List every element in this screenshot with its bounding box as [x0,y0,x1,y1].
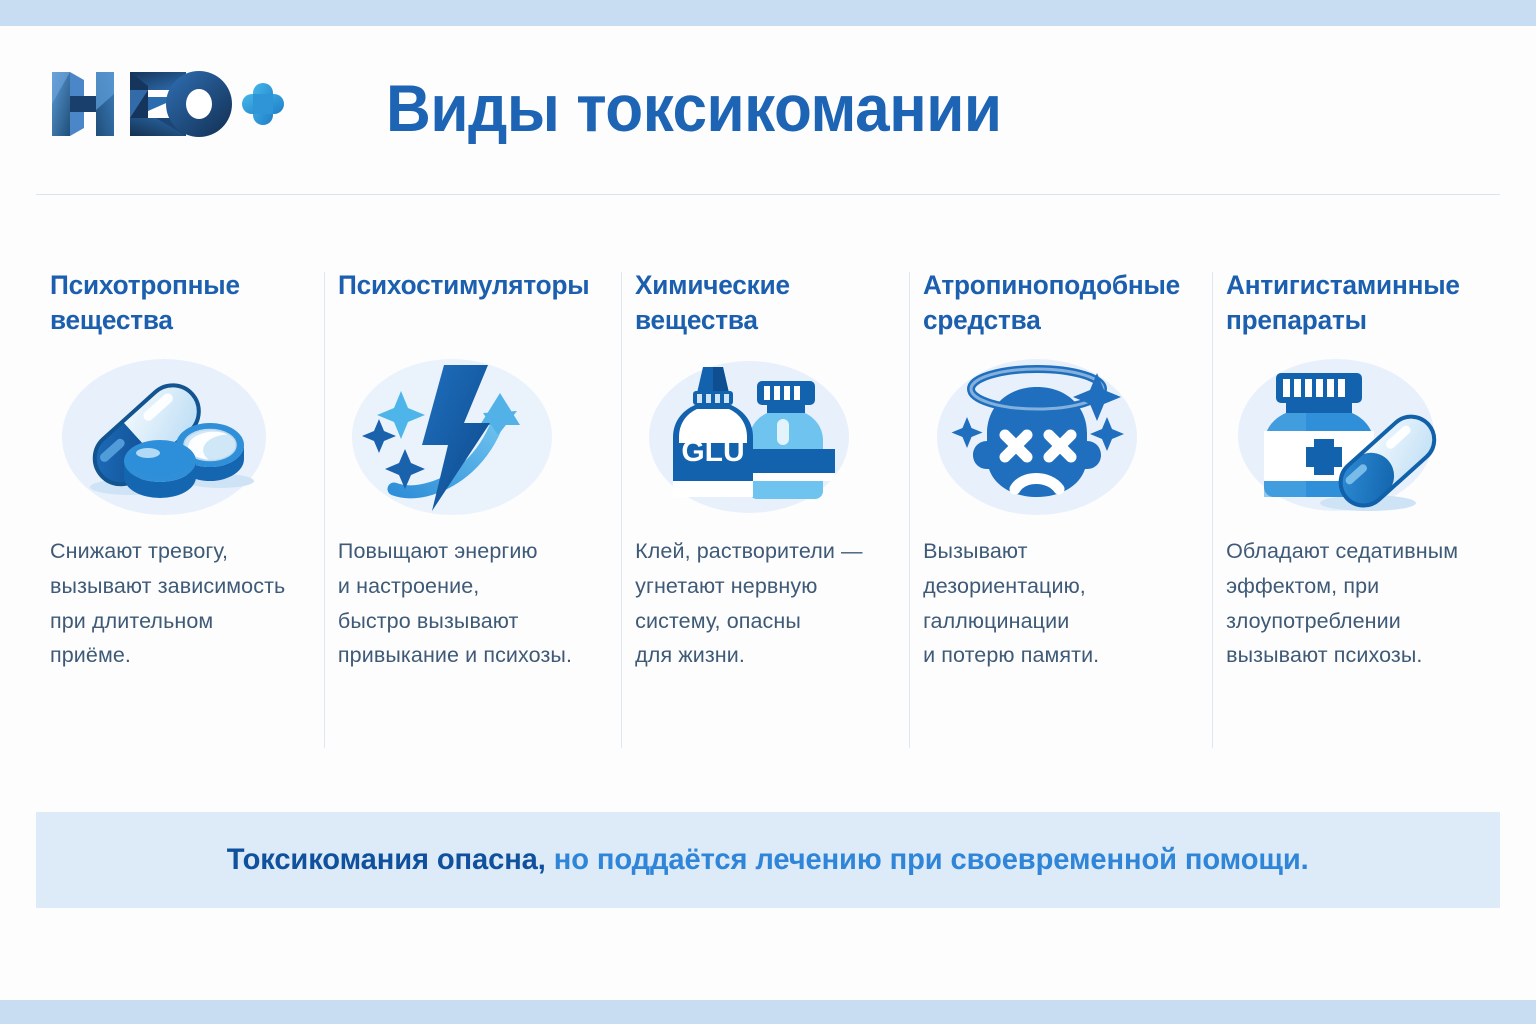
glue-label: GLU [681,435,744,468]
page-title: Виды токсикомании [386,70,1002,146]
column-title-psychotropic: Психотропные вещества [50,268,292,344]
column-title-antihistamine: Антигистаминные препараты [1226,268,1468,344]
footer-message-rest: но поддаётся лечению при своевременной п… [546,843,1309,876]
column-title-psychostimulants: Психостимуляторы [338,268,589,344]
bottom-accent-band [0,1000,1536,1024]
lightning-arrow-sparkles-icon [338,344,597,534]
medicine-bottle-capsule-icon [1226,344,1476,534]
column-body-antihistamine: Обладают седативным эффектом, при злоупо… [1226,534,1476,673]
pills-capsule-icon [50,344,300,534]
top-accent-band [0,0,1536,26]
glue-solvent-bottles-icon: GLU [635,344,885,534]
column-antihistamine: Антигистаминные препараты [1212,268,1500,748]
column-body-atropine-like: Вызывают дезориентацию, галлюцинации и п… [923,534,1188,673]
category-columns: Психотропные вещества [36,268,1500,748]
column-atropine-like: Атропиноподобные средства [909,268,1212,748]
column-body-psychotropic: Снижают тревогу, вызывают зависимость пр… [50,534,300,673]
column-title-atropine-like: Атропиноподобные средства [923,268,1180,344]
footer-message: Токсикомания опасна, но поддаётся лечени… [227,843,1309,877]
neo-plus-logo [46,64,286,144]
dizzy-face-icon [923,344,1188,534]
column-body-chemical: Клей, растворители — угнетают нервную си… [635,534,885,673]
column-title-chemical: Химические вещества [635,268,877,344]
column-chemical: Химические вещества [621,268,909,748]
footer-banner: Токсикомания опасна, но поддаётся лечени… [36,812,1500,908]
column-psychostimulants: Психостимуляторы [324,268,621,748]
column-body-psychostimulants: Повыщают энергию и настроение, быстро вы… [338,534,597,673]
header-divider [36,194,1500,195]
footer-message-strong: Токсикомания опасна, [227,843,546,876]
column-psychotropic: Психотропные вещества [36,268,324,748]
header: Виды токсикомании [0,26,1536,186]
